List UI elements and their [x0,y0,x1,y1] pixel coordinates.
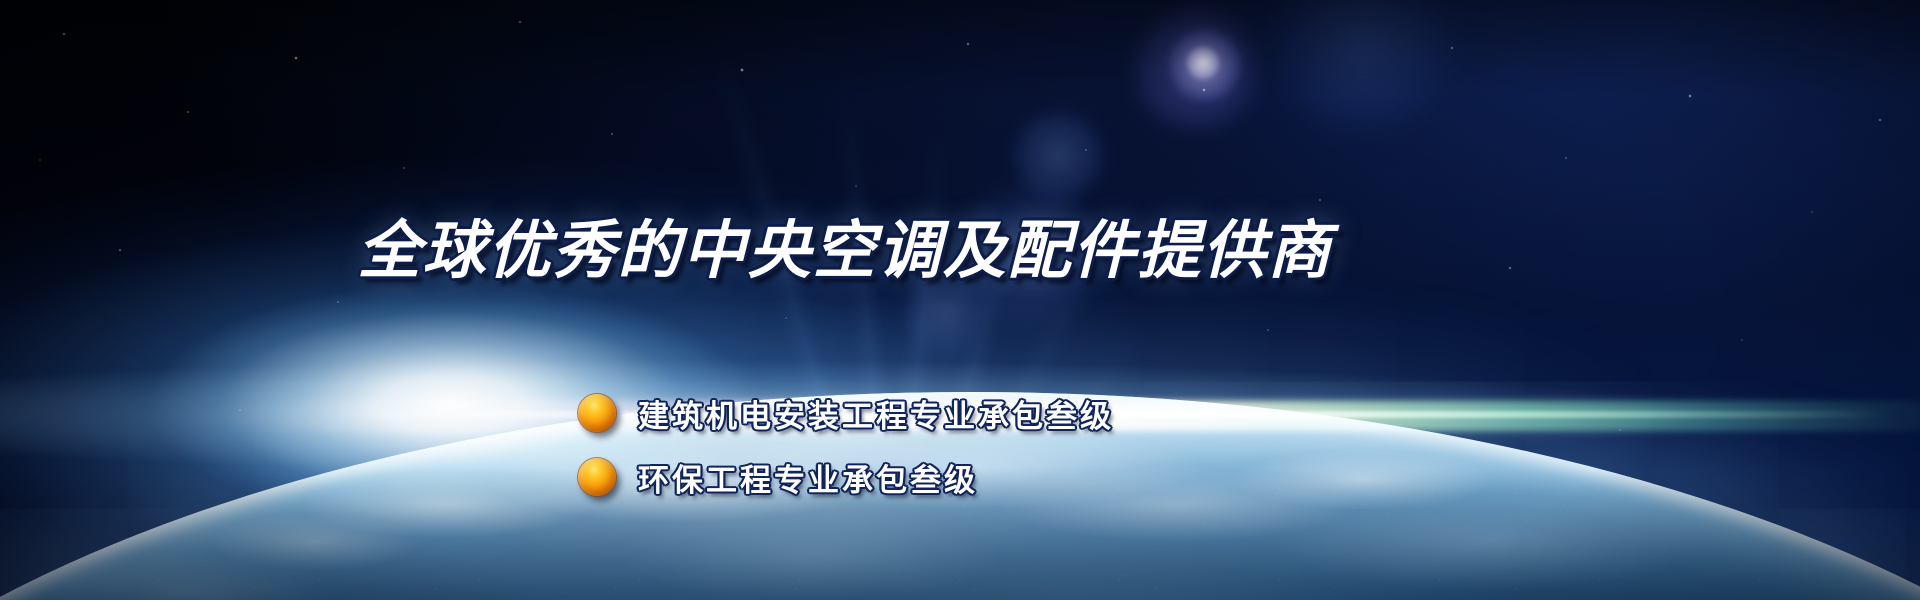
list-item: 环保工程专业承包叁级 [578,446,1114,508]
hero-banner: 全球优秀的中央空调及配件提供商 建筑机电安装工程专业承包叁级 环保工程专业承包叁… [0,0,1920,600]
list-item-label: 环保工程专业承包叁级 [638,455,978,500]
orange-sphere-bullet-icon [578,458,616,496]
banner-headline: 全球优秀的中央空调及配件提供商 [0,200,1690,291]
certification-list: 建筑机电安装工程专业承包叁级 环保工程专业承包叁级 [578,382,1114,508]
list-item-label: 建筑机电安装工程专业承包叁级 [638,391,1114,436]
orange-sphere-bullet-icon [578,394,616,432]
list-item: 建筑机电安装工程专业承包叁级 [578,382,1114,444]
banner-content: 全球优秀的中央空调及配件提供商 建筑机电安装工程专业承包叁级 环保工程专业承包叁… [0,0,1920,600]
